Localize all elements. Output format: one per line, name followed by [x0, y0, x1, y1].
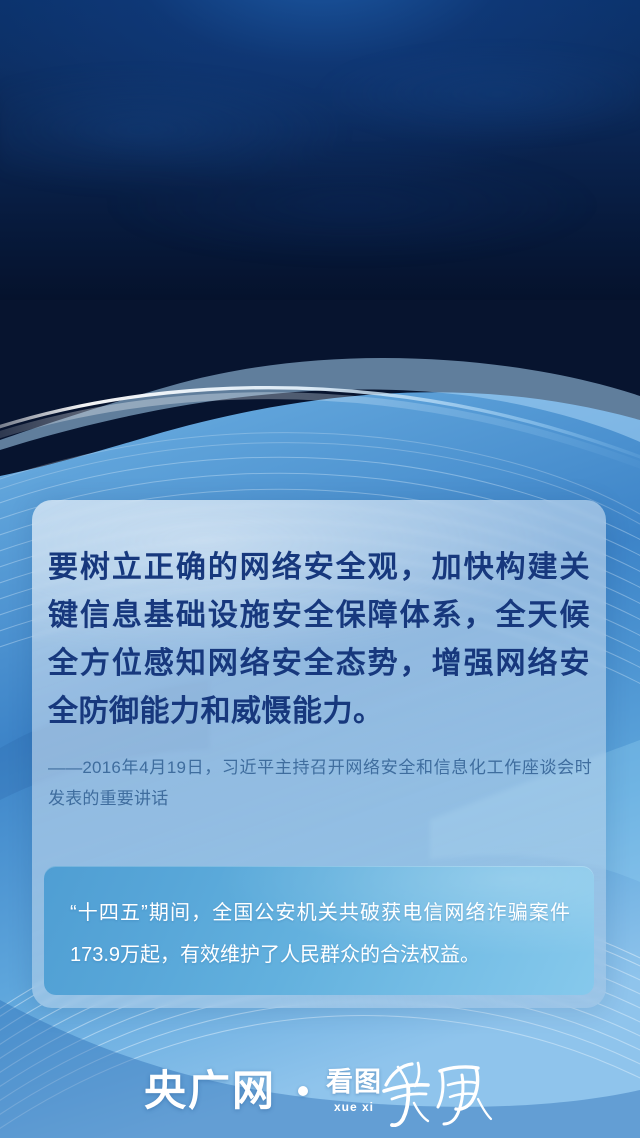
section-pinyin: xue xi [334, 1101, 374, 1113]
section-title-kantu: 看图 [326, 1069, 382, 1096]
quote-text: 要树立正确的网络安全观，加快构建关键信息基础设施安全保障体系，全天候全方位感知网… [48, 544, 590, 736]
sky-haze-layer [0, 40, 640, 340]
calligraphy-xuexi-icon [378, 1055, 496, 1127]
fact-text: “十四五”期间，全国公安机关共破获电信网络诈骗案件173.9万起，有效维护了人民… [70, 892, 570, 976]
quote-card: 要树立正确的网络安全观，加快构建关键信息基础设施安全保障体系，全天候全方位感知网… [32, 500, 606, 1008]
fact-highlight-box: “十四五”期间，全国公安机关共破获电信网络诈骗案件173.9万起，有效维护了人民… [44, 866, 594, 995]
brand-name-cnr: 央广网 [144, 1070, 276, 1112]
poster-root: 要树立正确的网络安全观，加快构建关键信息基础设施安全保障体系，全天候全方位感知网… [0, 0, 640, 1138]
footer-logo-bar: 央广网 看图 xue xi [0, 1044, 640, 1138]
quote-attribution: ——2016年4月19日，习近平主持召开网络安全和信息化工作座谈会时发表的重要讲… [48, 752, 592, 814]
separator-dot-icon [298, 1086, 308, 1096]
section-title-block: 看图 xue xi [326, 1069, 382, 1113]
logo-row: 央广网 看图 xue xi [144, 1055, 496, 1127]
